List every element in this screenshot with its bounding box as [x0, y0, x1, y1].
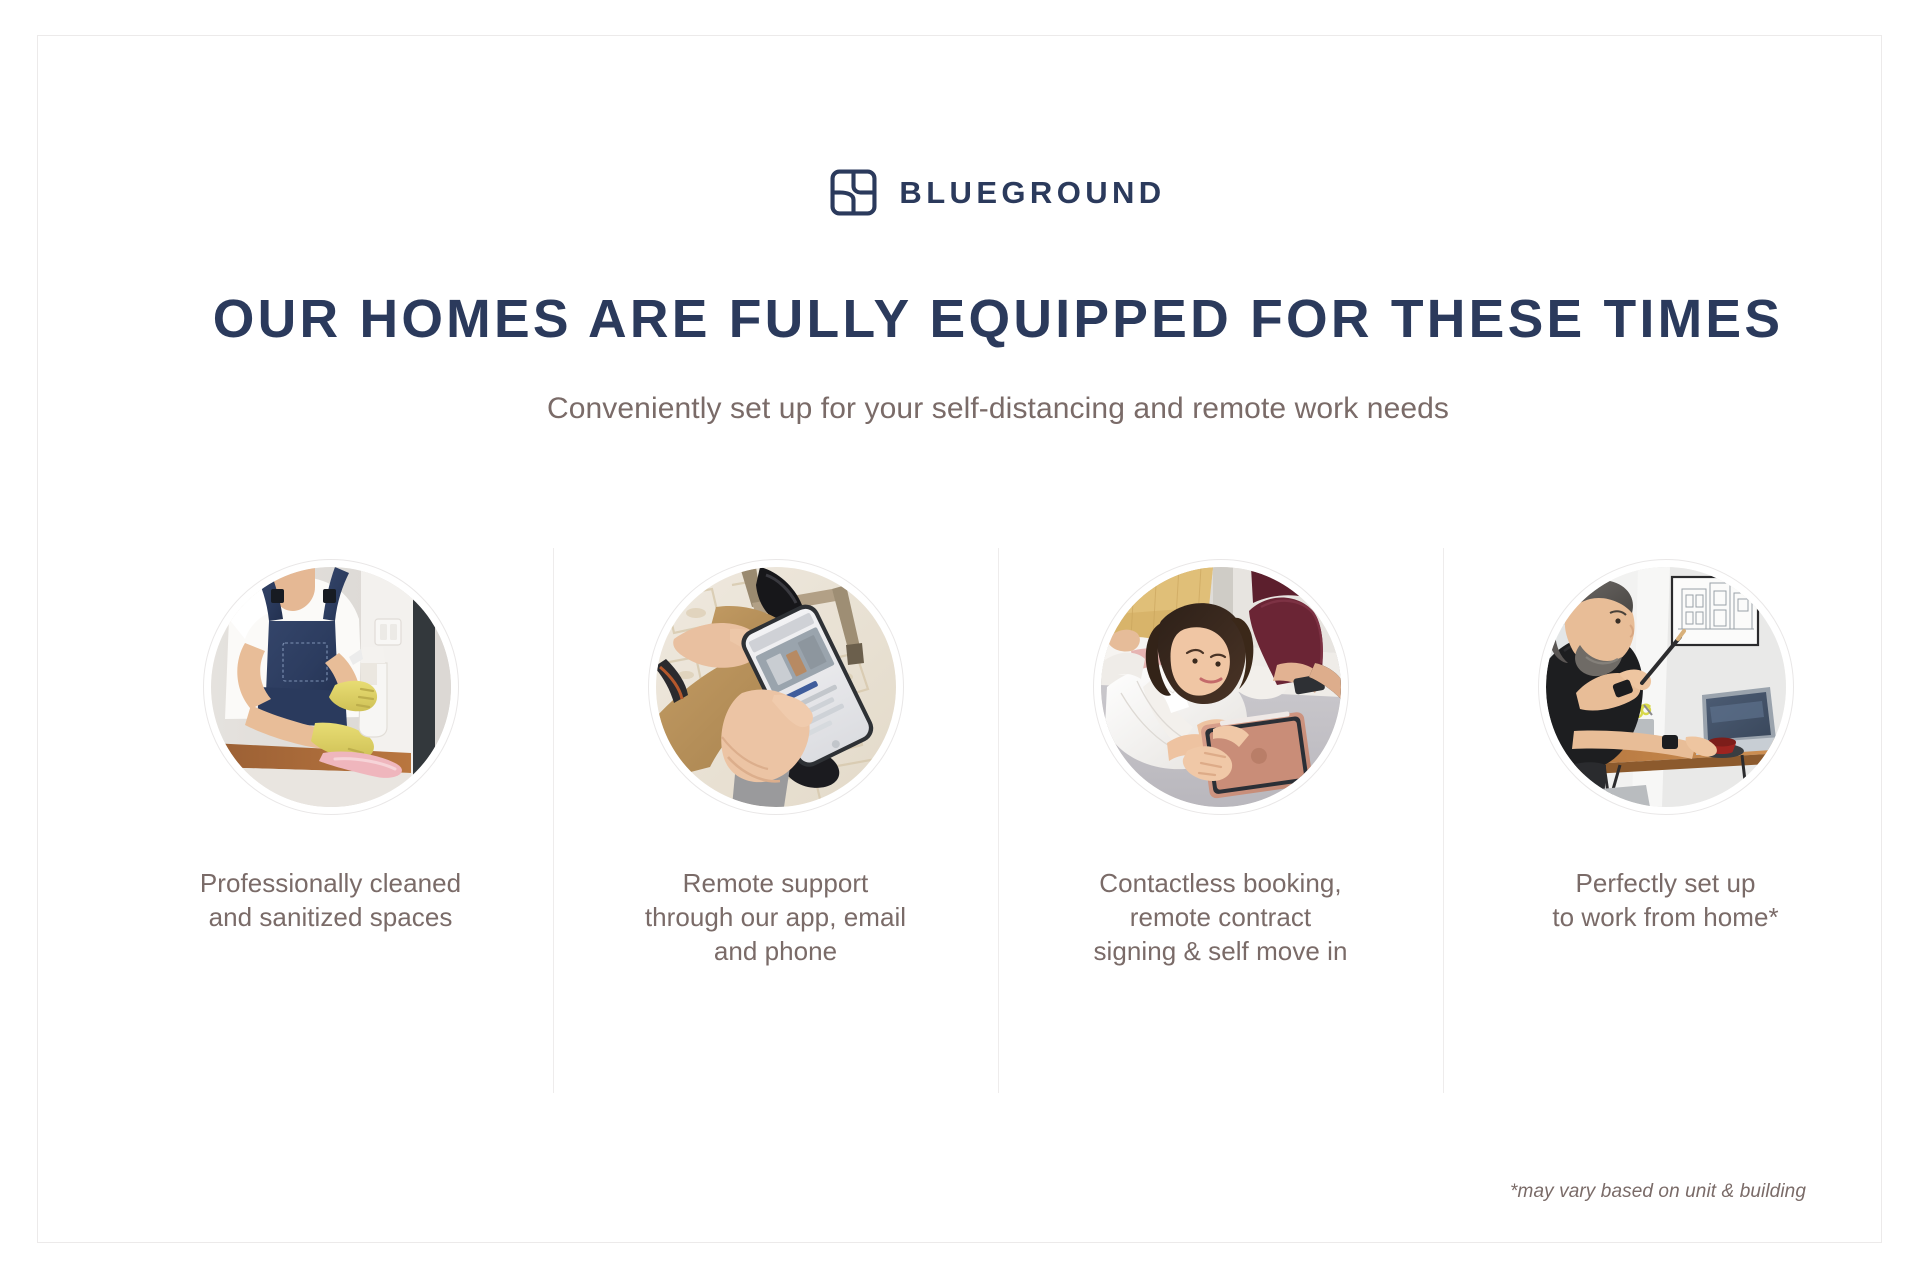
blueground-square-logo-icon	[830, 169, 877, 216]
tablet-booking-photo	[1101, 567, 1341, 807]
feature-caption: Contactless booking, remote contract sig…	[1093, 867, 1347, 968]
feature-item-contactless-booking: Contactless booking, remote contract sig…	[998, 548, 1443, 1093]
work-from-home-photo-ring	[1538, 559, 1794, 815]
mobile-app-photo-ring	[648, 559, 904, 815]
tablet-booking-photo-ring	[1093, 559, 1349, 815]
page-subtitle: Conveniently set up for your self-distan…	[38, 391, 1920, 427]
feature-list: Professionally cleaned and sanitized spa…	[108, 548, 1888, 1093]
poster-frame: BLUEGROUND OUR HOMES ARE FULLY EQUIPPED …	[37, 35, 1882, 1243]
brand-logo: BLUEGROUND	[38, 169, 1920, 216]
mobile-app-photo	[656, 567, 896, 807]
brand-wordmark: BLUEGROUND	[899, 177, 1165, 208]
feature-item-remote-support: Remote support through our app, email an…	[553, 548, 998, 1093]
feature-caption: Perfectly set up to work from home*	[1552, 867, 1778, 935]
work-from-home-photo	[1546, 567, 1786, 807]
feature-item-work-from-home: Perfectly set up to work from home*	[1443, 548, 1888, 1093]
cleaning-photo	[211, 567, 451, 807]
page-title: OUR HOMES ARE FULLY EQUIPPED FOR THESE T…	[48, 291, 1920, 348]
feature-caption: Professionally cleaned and sanitized spa…	[200, 867, 461, 935]
footnote: *may vary based on unit & building	[1510, 1181, 1806, 1203]
poster-canvas: BLUEGROUND OUR HOMES ARE FULLY EQUIPPED …	[0, 0, 1920, 1280]
cleaning-photo-ring	[203, 559, 459, 815]
feature-caption: Remote support through our app, email an…	[645, 867, 906, 968]
feature-item-cleaning: Professionally cleaned and sanitized spa…	[108, 548, 553, 1093]
